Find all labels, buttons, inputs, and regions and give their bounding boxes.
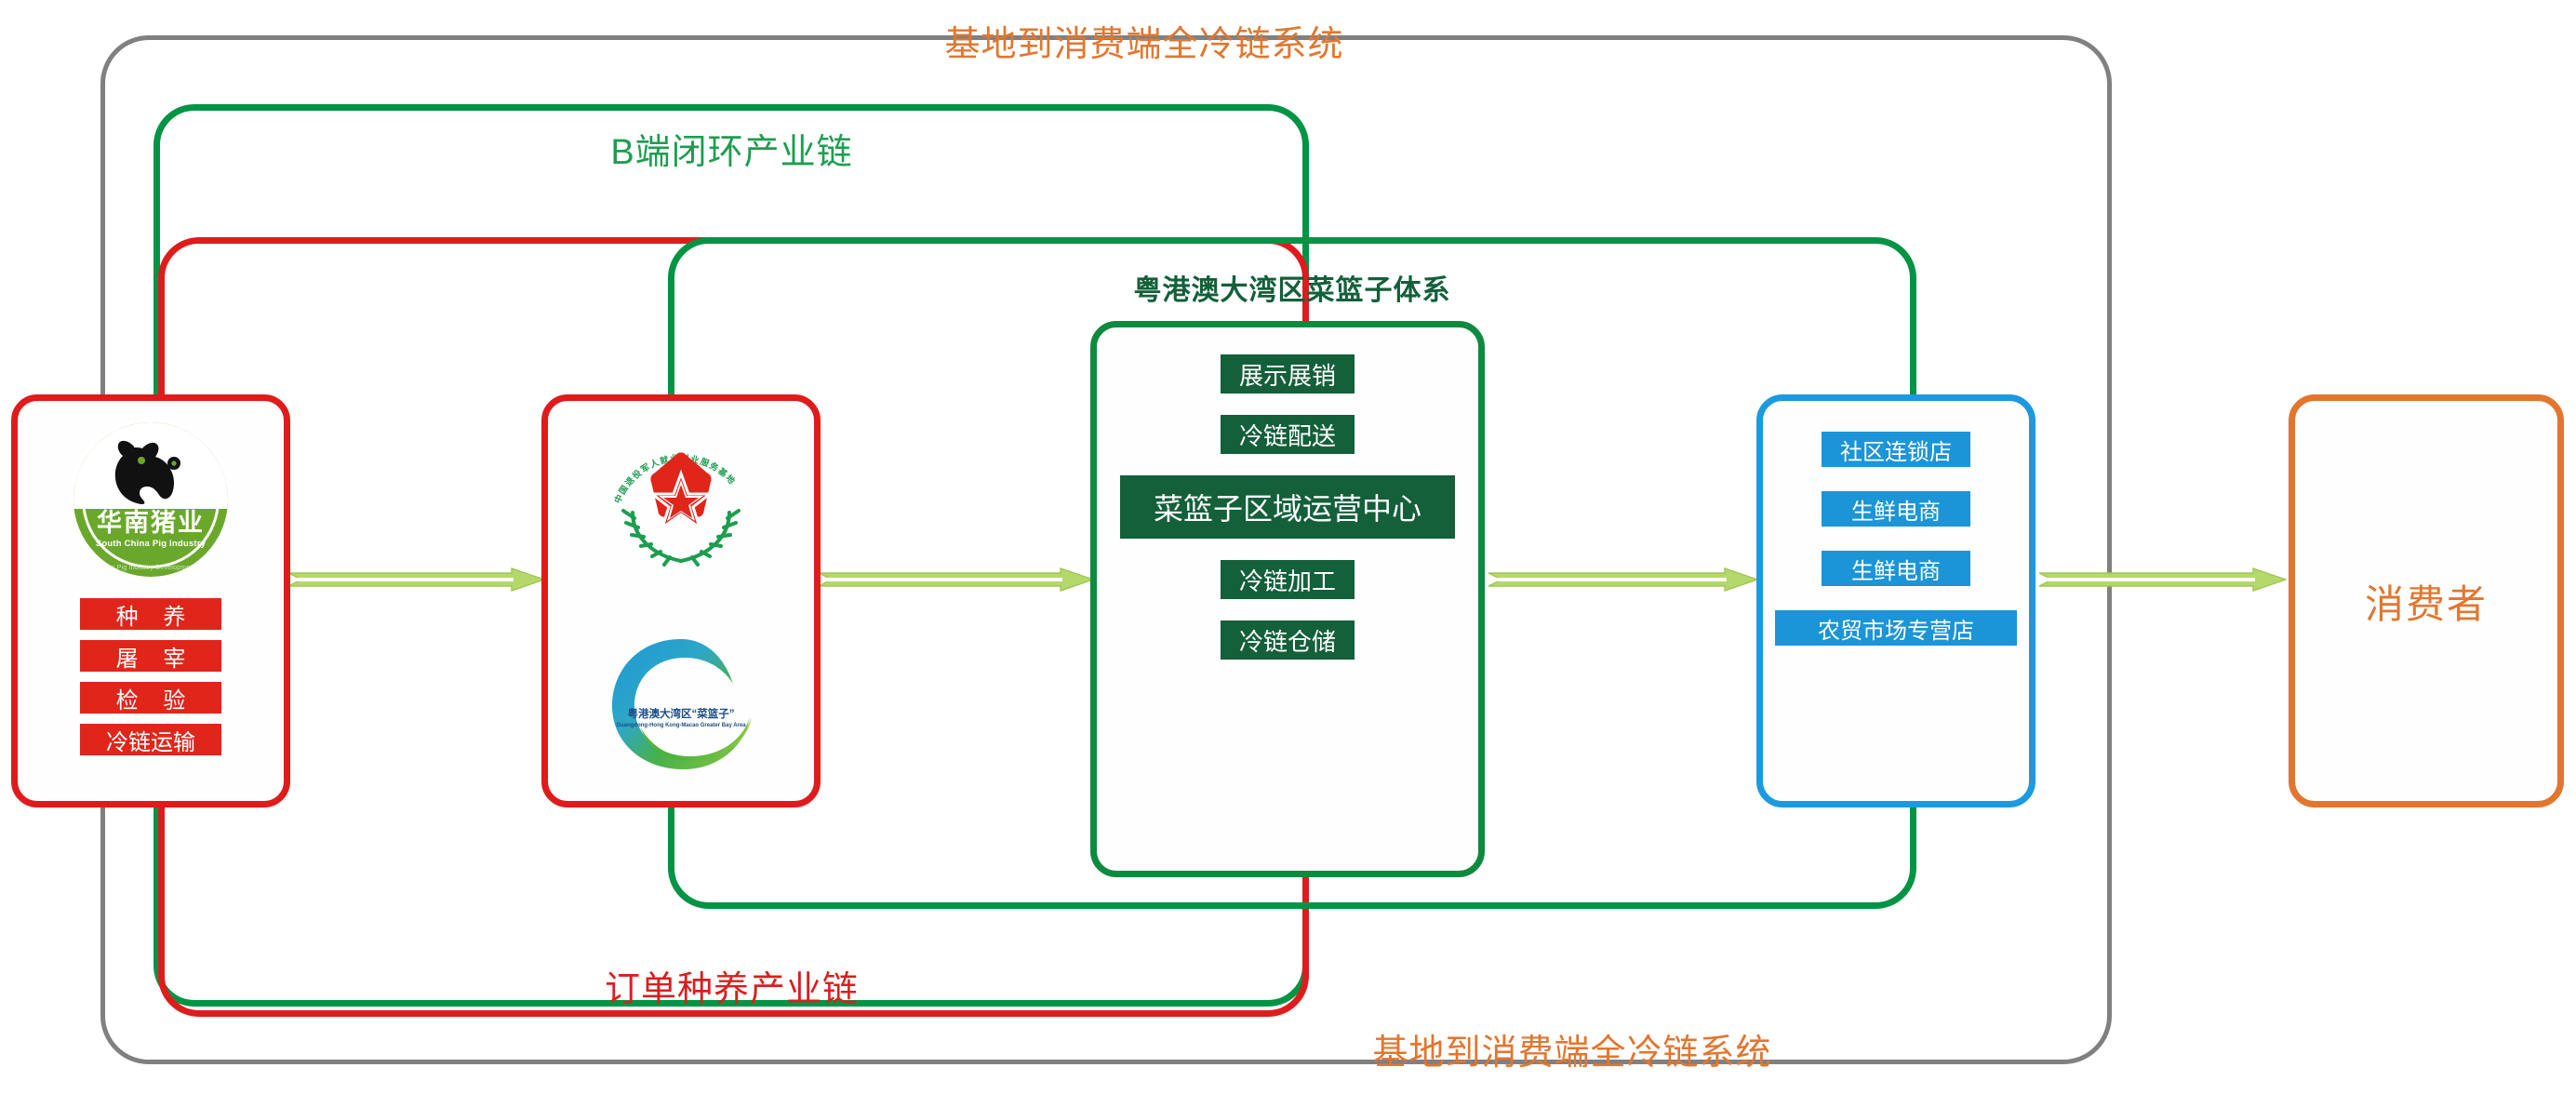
operation-item[interactable]: 冷链仓储 [1221, 620, 1355, 660]
operation-center-list: 展示展销 冷链配送 菜篮子区域运营中心 冷链加工 冷链仓储 [1097, 354, 1478, 660]
retail-channel-item[interactable]: 生鲜电商 [1822, 491, 1970, 527]
farm-stage-item[interactable]: 冷链运输 [80, 724, 221, 755]
node-farm-production[interactable]: 华南猪业 South China Pig Industry South Chin… [11, 394, 290, 807]
label-greater-bay-basket-system: 粤港澳大湾区菜篮子体系 [668, 267, 1916, 308]
logo-name-en-sub: South China Pig Industry Development Co.… [73, 565, 228, 571]
label-order-farming-chain: 订单种养产业链 [0, 960, 1463, 1011]
farm-stage-item[interactable]: 种 养 [80, 598, 221, 630]
arrow-retail-to-consumer [2039, 567, 2287, 592]
retail-channel-item[interactable]: 社区连锁店 [1822, 432, 1970, 467]
svg-text:粤港澳大湾区“菜篮子”: 粤港澳大湾区“菜篮子” [628, 707, 735, 720]
label-b-end-closed-loop: B端闭环产业链 [0, 123, 1463, 174]
operation-item[interactable]: 冷链配送 [1221, 415, 1355, 454]
retail-channel-item[interactable]: 农贸市场专营店 [1775, 610, 2017, 646]
logo-name-en: South China Pig Industry [73, 539, 228, 549]
veteran-star-wreath-icon: 中国退役军人就业创业服务基地 [601, 421, 761, 581]
title-top: 基地到消费端全冷链系统 [0, 15, 2289, 66]
farm-stage-item[interactable]: 屠 宰 [80, 640, 221, 672]
consumer-label: 消费者 [2365, 573, 2488, 630]
farm-stage-list: 种 养 屠 宰 检 验 冷链运输 [18, 598, 284, 755]
arrow-cert-to-center [819, 567, 1094, 592]
node-consumer[interactable]: 消费者 [2289, 394, 2564, 807]
operation-item[interactable]: 冷链加工 [1221, 560, 1355, 599]
greater-bay-area-basket-icon: 粤港澳大湾区“菜篮子” Guangdong-Hong Kong-Macao Gr… [603, 624, 759, 780]
node-basket-operation-center[interactable]: 展示展销 冷链配送 菜篮子区域运营中心 冷链加工 冷链仓储 [1090, 321, 1485, 877]
node-certifications[interactable]: 中国退役军人就业创业服务基地 [541, 394, 821, 807]
arrow-center-to-retail [1488, 567, 1758, 592]
farm-stage-item[interactable]: 检 验 [80, 682, 221, 714]
retail-channel-item[interactable]: 生鲜电商 [1822, 551, 1970, 586]
retail-channel-list: 社区连锁店 生鲜电商 生鲜电商 农贸市场专营店 [1763, 432, 2029, 646]
node-retail-channels[interactable]: 社区连锁店 生鲜电商 生鲜电商 农贸市场专营店 [1756, 394, 2035, 807]
logo-name-zh: 华南猪业 [97, 511, 205, 536]
south-china-pig-industry-logo: 华南猪业 South China Pig Industry South Chin… [69, 418, 233, 581]
title-bottom: 基地到消费端全冷链系统 [428, 1023, 2576, 1074]
diagram-canvas: 华南猪业 South China Pig Industry South Chin… [0, 0, 2576, 1094]
arrow-farm-to-cert [288, 567, 545, 592]
operation-center-hero[interactable]: 菜篮子区域运营中心 [1120, 475, 1455, 539]
svg-text:Guangdong-Hong Kong-Macao Grea: Guangdong-Hong Kong-Macao Greater Bay Ar… [616, 723, 746, 728]
operation-item[interactable]: 展示展销 [1221, 354, 1355, 394]
